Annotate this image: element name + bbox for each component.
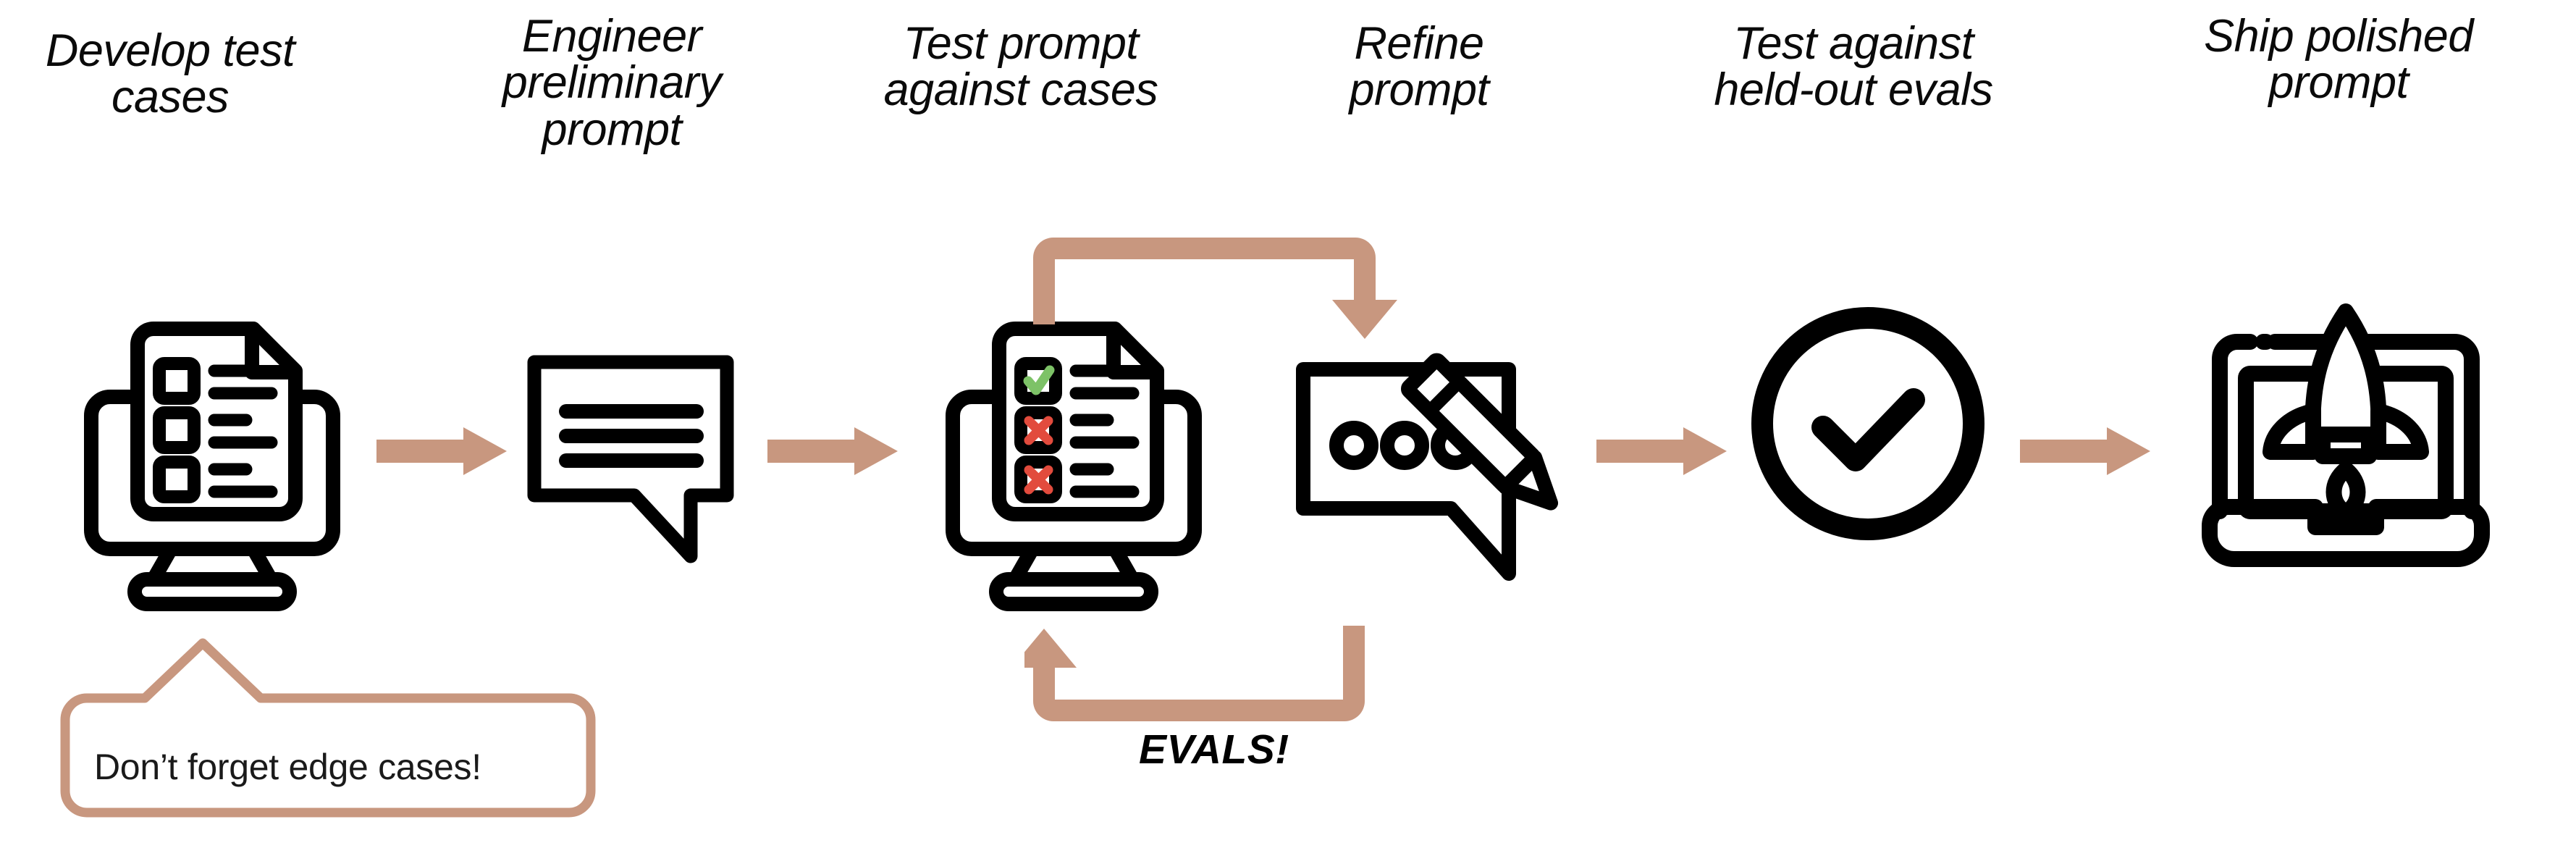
speech-bubble-lines-icon <box>526 353 736 563</box>
arrow-connector-5 <box>2020 426 2150 477</box>
evals-caption: EVALS! <box>1139 726 1289 773</box>
edge-cases-callout-text: Don’t forget edge cases! <box>94 746 481 788</box>
laptop-rocket-icon <box>2194 295 2498 571</box>
diagram-canvas: Develop test cases Engineer preliminary … <box>0 0 2576 856</box>
arrow-connector-2 <box>767 426 898 477</box>
step-label-test-against-held-out-evals: Test against held-out evals <box>1658 20 2049 114</box>
step-label-test-prompt-against-cases: Test prompt against cases <box>840 20 1202 114</box>
speech-bubble-pencil-icon <box>1295 327 1577 588</box>
feedback-loop-top-arrow <box>1024 229 1430 345</box>
edge-cases-callout: Don’t forget edge cases! <box>56 630 599 826</box>
check-circle-icon <box>1748 304 1987 543</box>
step-label-refine-prompt: Refine prompt <box>1274 20 1564 114</box>
arrow-connector-1 <box>376 426 507 477</box>
step-label-ship-polished-prompt: Ship polished prompt <box>2143 13 2534 106</box>
step-label-engineer-preliminary-prompt: Engineer preliminary prompt <box>442 13 782 153</box>
step-label-develop-test-cases: Develop test cases <box>0 28 340 121</box>
arrow-connector-4 <box>1596 426 1727 477</box>
monitor-checklist-results-icon <box>940 319 1208 608</box>
feedback-loop-bottom-arrow <box>1024 623 1430 742</box>
monitor-checklist-icon <box>78 319 346 608</box>
